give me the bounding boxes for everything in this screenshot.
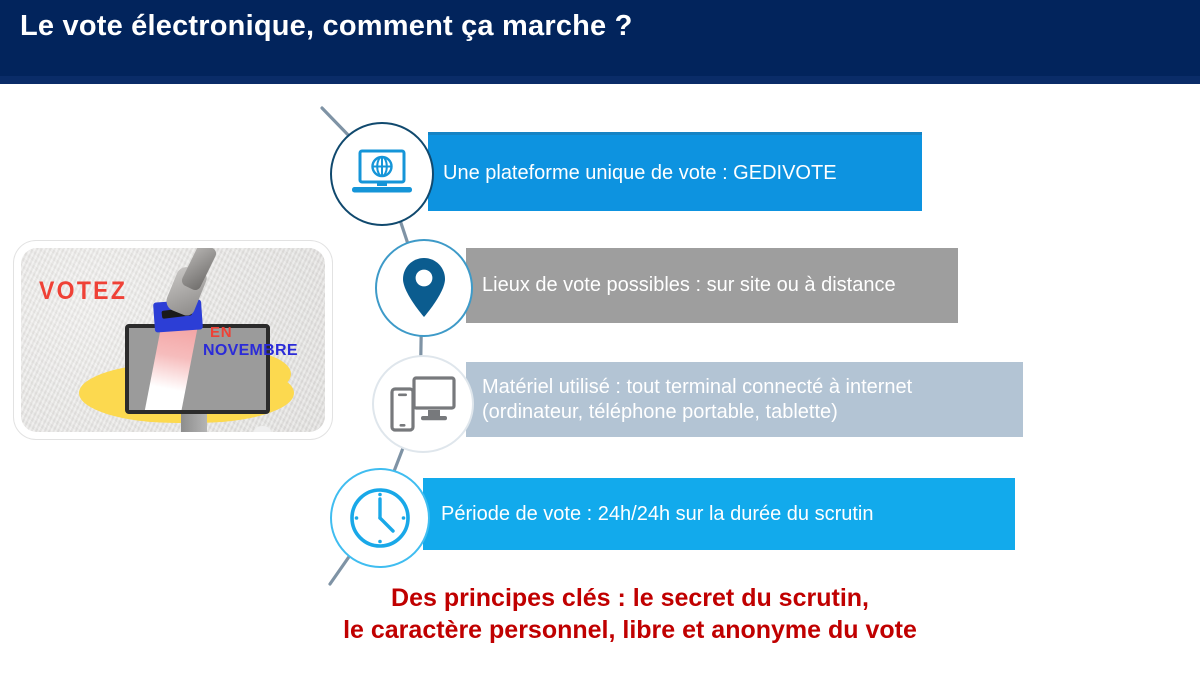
- slide-header: Le vote électronique, comment ça marche …: [0, 0, 1200, 84]
- votez-illustration-card: VOTEZ EN NOVEMBRE: [14, 241, 332, 439]
- key-principles-line1: Des principes clés : le secret du scruti…: [0, 582, 1200, 614]
- step-label-devices-line2: (ordinateur, téléphone portable, tablett…: [482, 400, 912, 425]
- page-title: Le vote électronique, comment ça marche …: [20, 10, 633, 43]
- step-label-devices-line1: Matériel utilisé : tout terminal connect…: [482, 375, 912, 400]
- monitor-icon: [125, 324, 270, 414]
- step-bar-platform[interactable]: Une plateforme unique de vote : GEDIVOTE: [428, 132, 922, 211]
- laptop-globe-icon: [330, 122, 434, 226]
- monitor-stand-neck: [181, 414, 207, 432]
- step-bar-period[interactable]: Période de vote : 24h/24h sur la durée d…: [423, 478, 1015, 550]
- key-principles-line2: le caractère personnel, libre et anonyme…: [0, 614, 1200, 646]
- novembre-label: NOVEMBRE: [203, 342, 298, 360]
- step-bar-locations[interactable]: Lieux de vote possibles : sur site ou à …: [466, 248, 958, 323]
- illustration-canvas: VOTEZ EN NOVEMBRE: [21, 248, 325, 432]
- step-bar-devices[interactable]: Matériel utilisé : tout terminal connect…: [466, 362, 1023, 437]
- votez-label: VOTEZ: [39, 277, 127, 306]
- key-principles-note: Des principes clés : le secret du scruti…: [0, 582, 1200, 646]
- step-label-locations: Lieux de vote possibles : sur site ou à …: [482, 273, 896, 298]
- step-label-devices: Matériel utilisé : tout terminal connect…: [482, 375, 912, 425]
- ballot-paper-on-screen: [144, 324, 198, 414]
- step-label-platform: Une plateforme unique de vote : GEDIVOTE: [443, 161, 837, 186]
- clock-icon: [330, 468, 430, 568]
- devices-icon: [372, 355, 474, 453]
- header-bottom-edge: [0, 76, 1200, 84]
- mouse-icon: [254, 426, 271, 432]
- step-label-period: Période de vote : 24h/24h sur la durée d…: [441, 502, 874, 527]
- map-pin-icon: [375, 239, 473, 337]
- en-label: EN: [210, 324, 232, 341]
- slide-root: Le vote électronique, comment ça marche …: [0, 0, 1200, 675]
